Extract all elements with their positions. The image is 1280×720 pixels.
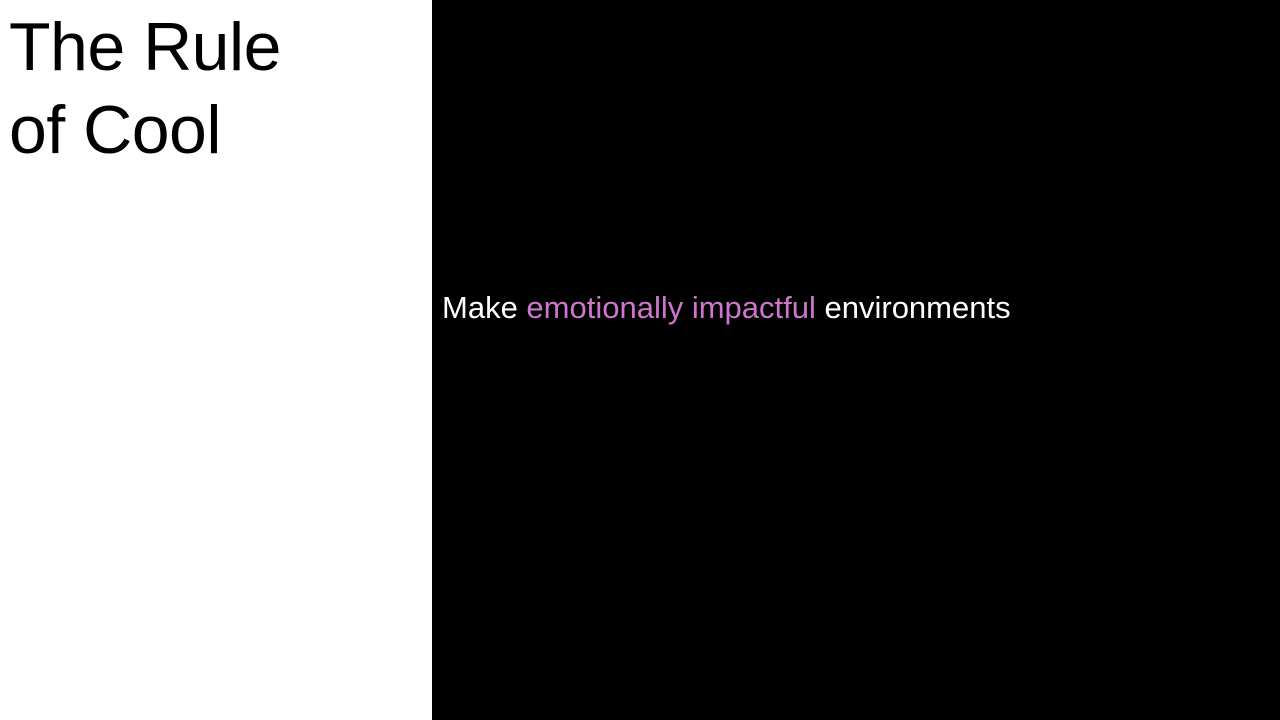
statement-text: Make emotionally impactful environments xyxy=(442,288,1272,328)
page-title: The Rule of Cool xyxy=(9,6,429,172)
statement-prefix: Make xyxy=(442,290,526,325)
content-panel: Make emotionally impactful environments xyxy=(432,0,1280,720)
statement-highlight: emotionally impactful xyxy=(526,290,815,325)
statement-suffix: environments xyxy=(816,290,1011,325)
title-panel: The Rule of Cool xyxy=(0,0,432,720)
presentation-slide: The Rule of Cool Make emotionally impact… xyxy=(0,0,1280,720)
